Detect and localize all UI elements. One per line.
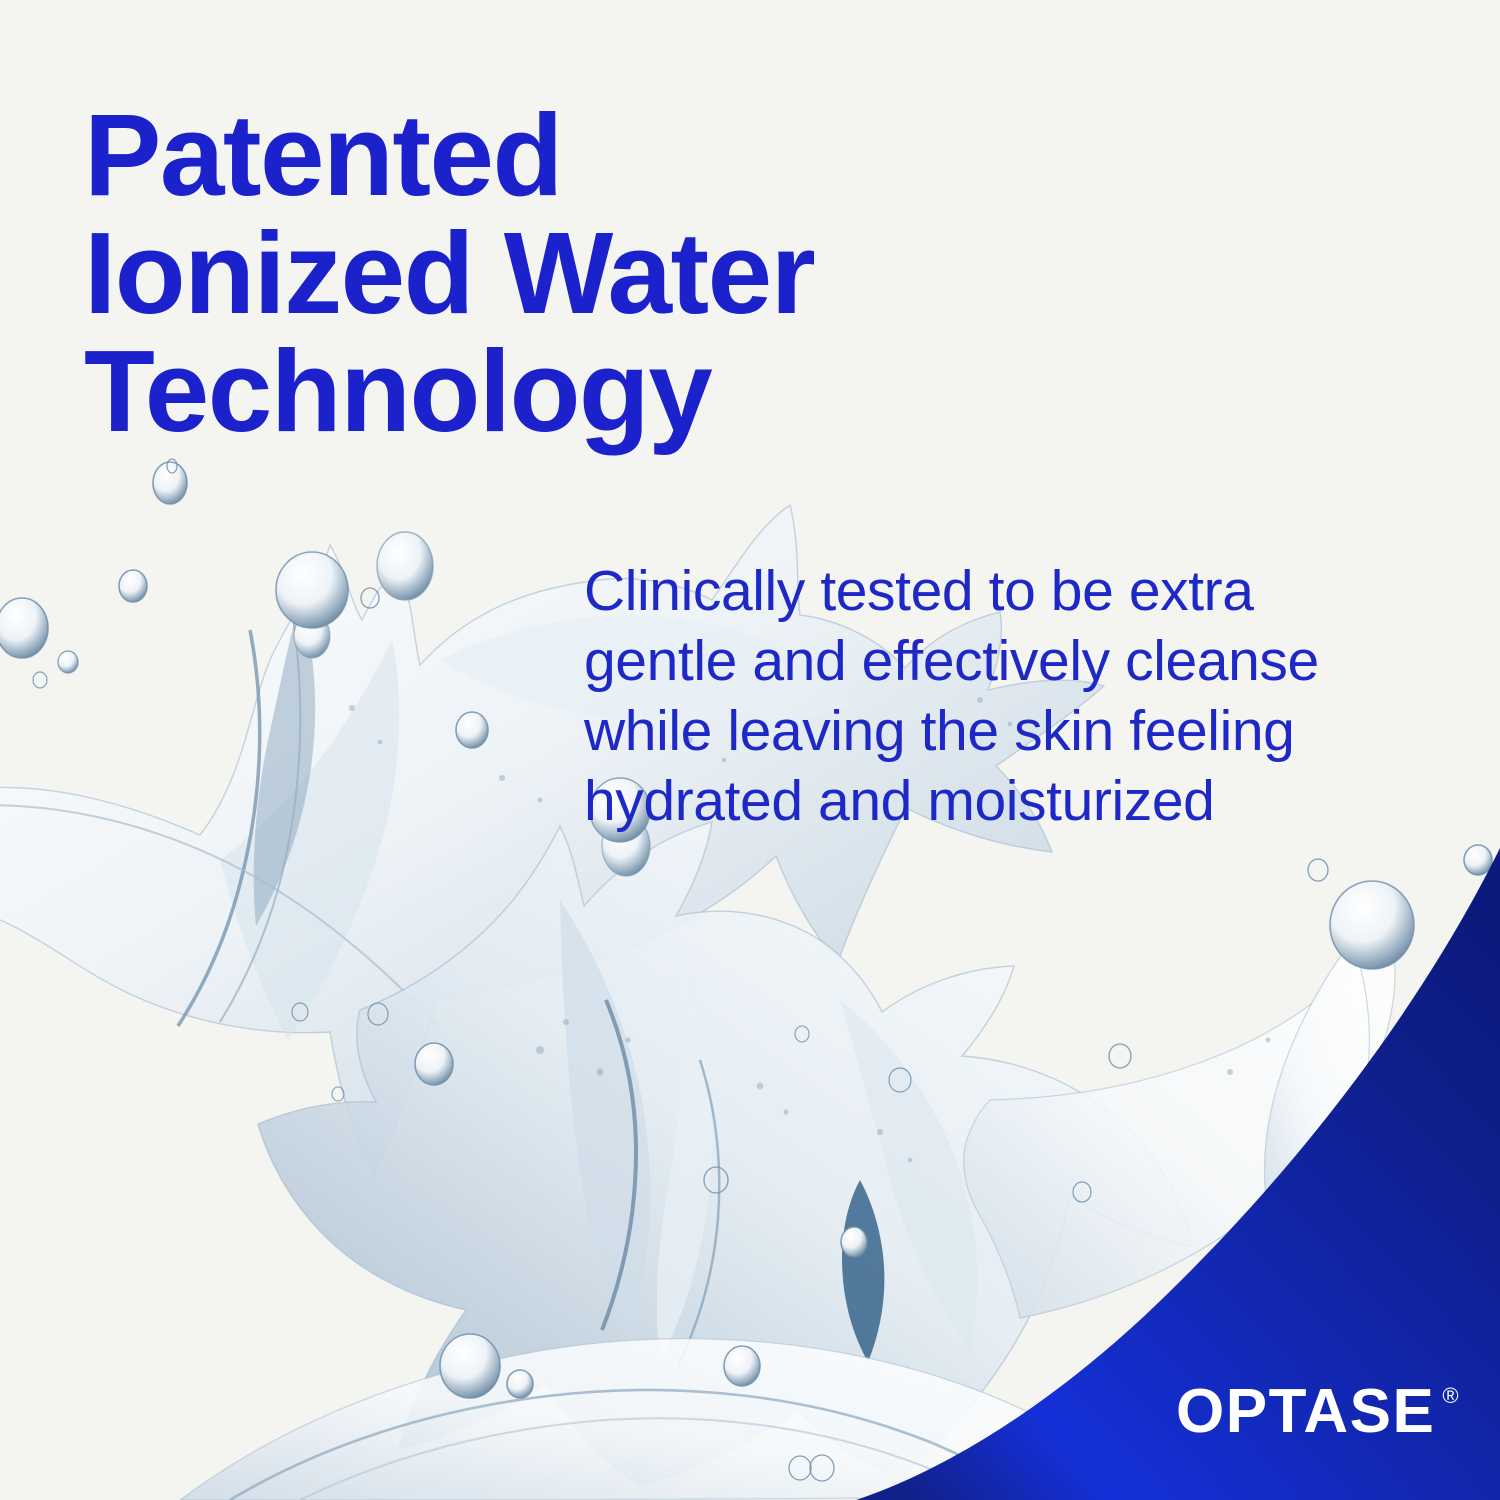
page-title: Patented Ionized Water Technology: [84, 96, 984, 450]
brand-logo: OPTASE ®: [1176, 1381, 1459, 1443]
registered-trademark-icon: ®: [1442, 1385, 1458, 1407]
brand-wordmark: OPTASE: [1176, 1381, 1435, 1443]
feature-description: Clinically tested to be extra gentle and…: [584, 556, 1444, 836]
product-feature-banner: Patented Ionized Water Technology Clinic…: [0, 0, 1500, 1500]
